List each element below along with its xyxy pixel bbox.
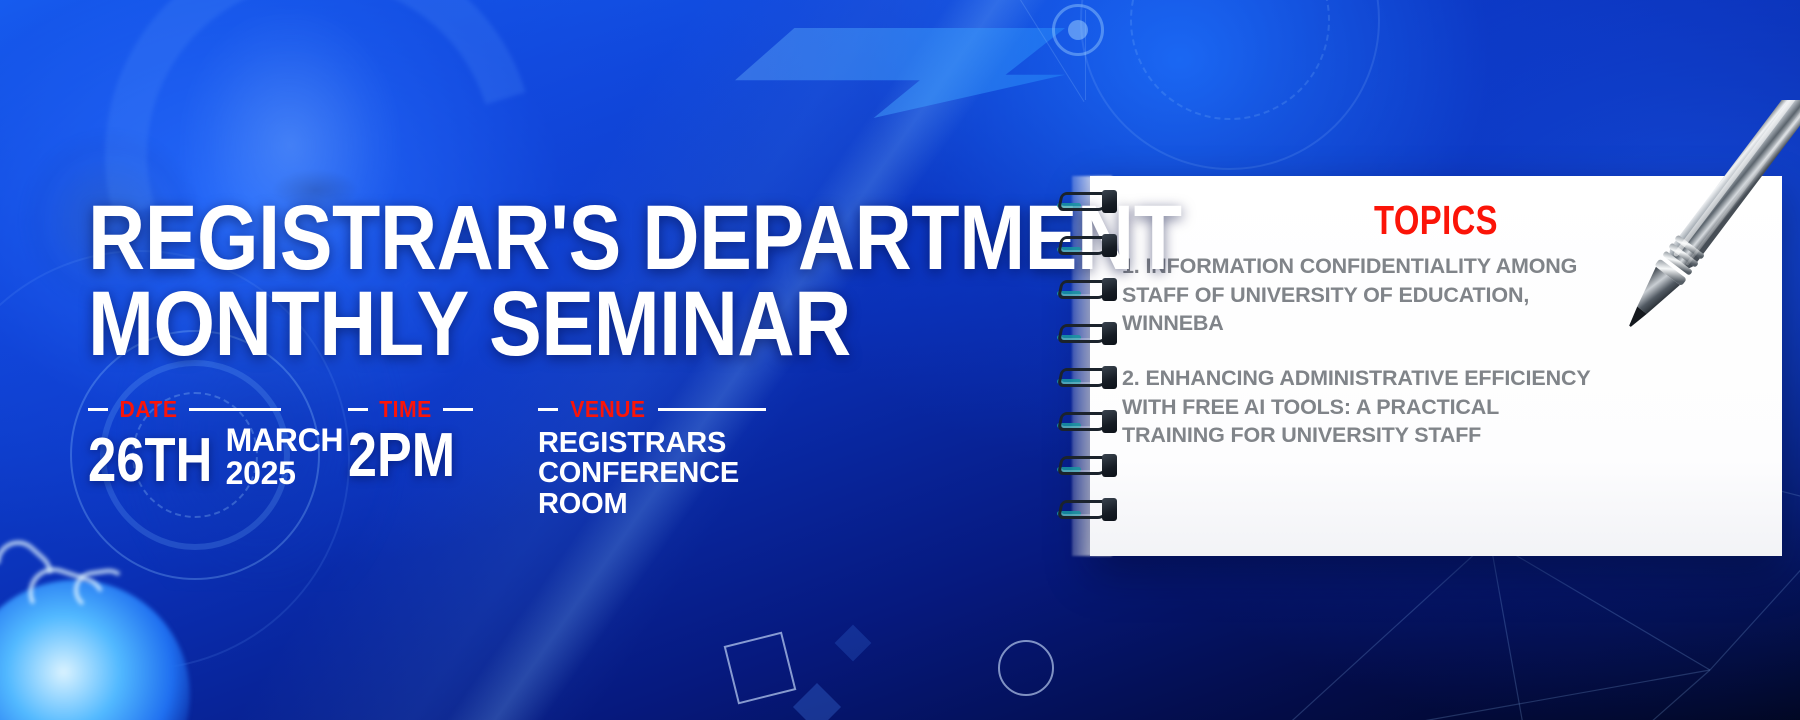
date-year: 2025 xyxy=(226,457,344,490)
diamond-shape xyxy=(835,625,872,662)
circle-outline-shape xyxy=(998,640,1054,696)
square-outline-shape xyxy=(724,632,797,705)
date-month: MARCH xyxy=(226,424,344,457)
spiral-ring-cap xyxy=(1102,234,1117,257)
spiral-ring-cap xyxy=(1102,366,1117,389)
rule xyxy=(443,408,473,411)
event-details: DATE 26TH MARCH 2025 TIME 2PM VE xyxy=(88,398,838,519)
rule xyxy=(538,408,558,411)
lightning-bolt-icon xyxy=(735,28,1065,118)
hud-ring-icon xyxy=(1130,0,1330,120)
time-caption-row: TIME xyxy=(348,398,538,420)
date-month-year: MARCH 2025 xyxy=(226,424,344,491)
rule xyxy=(348,408,368,411)
detail-time: TIME 2PM xyxy=(348,398,538,487)
circuit-node-dot-icon xyxy=(1068,20,1088,40)
notepad-spiral-binding xyxy=(1055,176,1121,556)
topic-2-line-1: 2. ENHANCING ADMINISTRATIVE EFFICIENCY xyxy=(1122,364,1772,393)
spiral-ring-cap xyxy=(1102,190,1117,213)
spiral-ring-cap xyxy=(1102,278,1117,301)
spiral-ring xyxy=(1055,368,1117,388)
topic-item: 2. ENHANCING ADMINISTRATIVE EFFICIENCY W… xyxy=(1122,364,1772,450)
time-caption: TIME xyxy=(379,396,431,423)
spiral-ring-cap xyxy=(1102,498,1117,521)
venue-line-3: ROOM xyxy=(538,489,838,519)
spiral-ring-cap xyxy=(1102,410,1117,433)
hud-ring-icon xyxy=(1080,0,1380,170)
date-caption-row: DATE xyxy=(88,398,348,420)
glowing-orb-icon xyxy=(0,580,190,720)
orb-arc xyxy=(0,532,61,605)
seminar-banner: REGISTRAR'S DEPARTMENT MONTHLY SEMINAR D… xyxy=(0,0,1800,720)
venue-line-2: CONFERENCE xyxy=(538,458,838,488)
venue-value: REGISTRARS CONFERENCE ROOM xyxy=(538,428,838,519)
spiral-ring xyxy=(1055,236,1117,256)
spiral-ring xyxy=(1055,192,1117,212)
rule xyxy=(658,408,766,411)
chrome-pen-icon xyxy=(1600,100,1800,360)
diamond-shape xyxy=(793,683,841,720)
rule xyxy=(88,408,108,411)
date-caption: DATE xyxy=(120,396,178,423)
venue-line-1: REGISTRARS xyxy=(538,428,838,458)
spiral-ring-cap xyxy=(1102,454,1117,477)
spiral-ring xyxy=(1055,324,1117,344)
spiral-ring xyxy=(1055,500,1117,520)
date-value: 26TH MARCH 2025 xyxy=(88,424,348,491)
page-title: REGISTRAR'S DEPARTMENT MONTHLY SEMINAR xyxy=(88,196,1182,367)
headline-line-2: MONTHLY SEMINAR xyxy=(88,282,1182,368)
circuit-node-icon xyxy=(1052,4,1104,56)
circuit-line xyxy=(1085,10,1086,100)
spiral-ring xyxy=(1055,280,1117,300)
detail-venue: VENUE REGISTRARS CONFERENCE ROOM xyxy=(538,398,838,519)
circuit-line xyxy=(1020,0,1084,102)
date-day: 26TH xyxy=(88,432,212,491)
rule xyxy=(189,408,281,411)
venue-caption: VENUE xyxy=(570,396,645,423)
spiral-ring-cap xyxy=(1102,322,1117,345)
venue-caption-row: VENUE xyxy=(538,398,838,420)
orb-arc xyxy=(22,561,112,633)
time-value: 2PM xyxy=(348,424,508,487)
detail-date: DATE 26TH MARCH 2025 xyxy=(88,398,348,491)
topic-2-line-3: TRAINING FOR UNIVERSITY STAFF xyxy=(1122,421,1772,450)
orb-arc xyxy=(72,566,131,611)
spiral-ring xyxy=(1055,456,1117,476)
spiral-ring xyxy=(1055,412,1117,432)
topic-2-line-2: WITH FREE AI TOOLS: A PRACTICAL xyxy=(1122,393,1772,422)
